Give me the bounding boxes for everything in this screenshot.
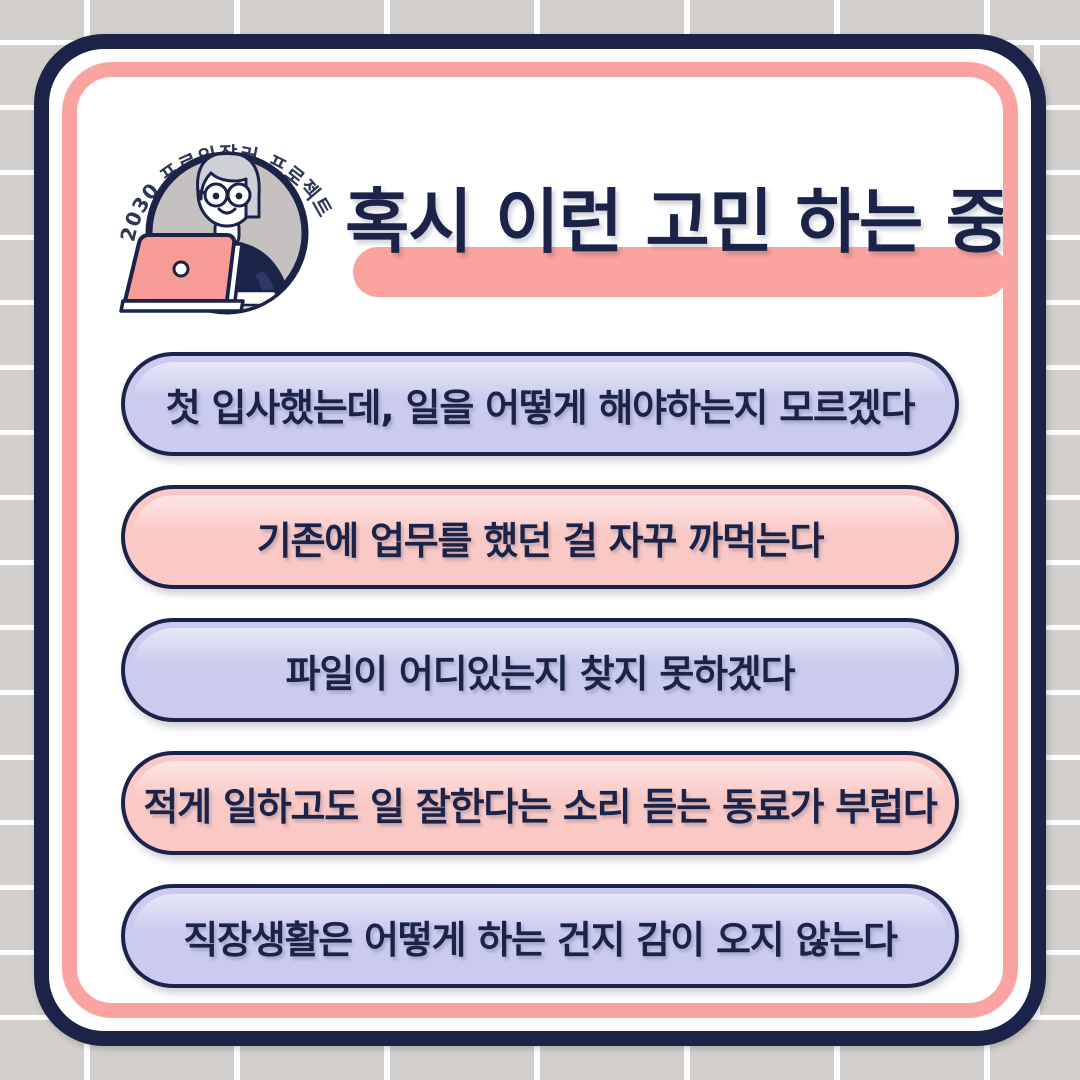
poster-header: 2030 프로일잘러 프로젝트 <box>77 77 1003 327</box>
brick-tile <box>1040 45 1080 105</box>
pain-point-item-4[interactable]: 적게 일하고도 일 잘한다는 소리 듣는 동료가 부럽다 <box>121 751 959 855</box>
person-with-laptop-illustration: 2030 프로일잘러 프로젝트 <box>115 121 345 321</box>
pain-point-item-5[interactable]: 직장생활은 어떻게 하는 건지 감이 오지 않는다 <box>121 884 959 988</box>
pain-point-item-3[interactable]: 파일이 어디있는지 찾지 못하겠다 <box>121 618 959 722</box>
pain-point-label: 적게 일하고도 일 잘한다는 소리 듣는 동료가 부럽다 <box>143 776 936 831</box>
brick-tile <box>1040 825 1080 885</box>
pain-point-label: 첫 입사했는데, 일을 어떻게 해야하는지 모르겠다 <box>166 377 915 432</box>
brick-tile <box>990 0 1080 40</box>
title-text: 혹시 이런 고민 하는 중? <box>345 187 1003 257</box>
brick-tile <box>1040 695 1080 755</box>
pain-point-label: 파일이 어디있는지 찾지 못하겠다 <box>286 643 795 698</box>
brick-tile <box>0 0 84 40</box>
brick-tile <box>1040 565 1080 625</box>
pain-point-list: 첫 입사했는데, 일을 어떻게 해야하는지 모르겠다 기존에 업무를 했던 걸 … <box>77 352 1003 988</box>
page-title: 혹시 이런 고민 하는 중? <box>345 187 1003 307</box>
pain-point-item-1[interactable]: 첫 입사했는데, 일을 어떻게 해야하는지 모르겠다 <box>121 352 959 456</box>
brick-tile <box>1040 305 1080 365</box>
pain-point-label: 기존에 업무를 했던 걸 자꾸 까먹는다 <box>257 510 824 565</box>
laptop-icon <box>121 235 243 311</box>
poster-inner-frame: 2030 프로일잘러 프로젝트 <box>62 62 1018 1018</box>
pain-point-label: 직장생활은 어떻게 하는 건지 감이 오지 않는다 <box>183 909 897 964</box>
brick-tile <box>1040 175 1080 235</box>
brand-badge: 2030 프로일잘러 프로젝트 <box>115 121 345 321</box>
pain-point-item-2[interactable]: 기존에 업무를 했던 걸 자꾸 까먹는다 <box>121 485 959 589</box>
brick-tile <box>1040 435 1080 495</box>
poster-stage: 2030 프로일잘러 프로젝트 <box>0 0 1080 1080</box>
poster-content: 2030 프로일잘러 프로젝트 <box>77 77 1003 1003</box>
poster-outer-frame: 2030 프로일잘러 프로젝트 <box>34 34 1046 1046</box>
brick-tile <box>1040 955 1080 1015</box>
